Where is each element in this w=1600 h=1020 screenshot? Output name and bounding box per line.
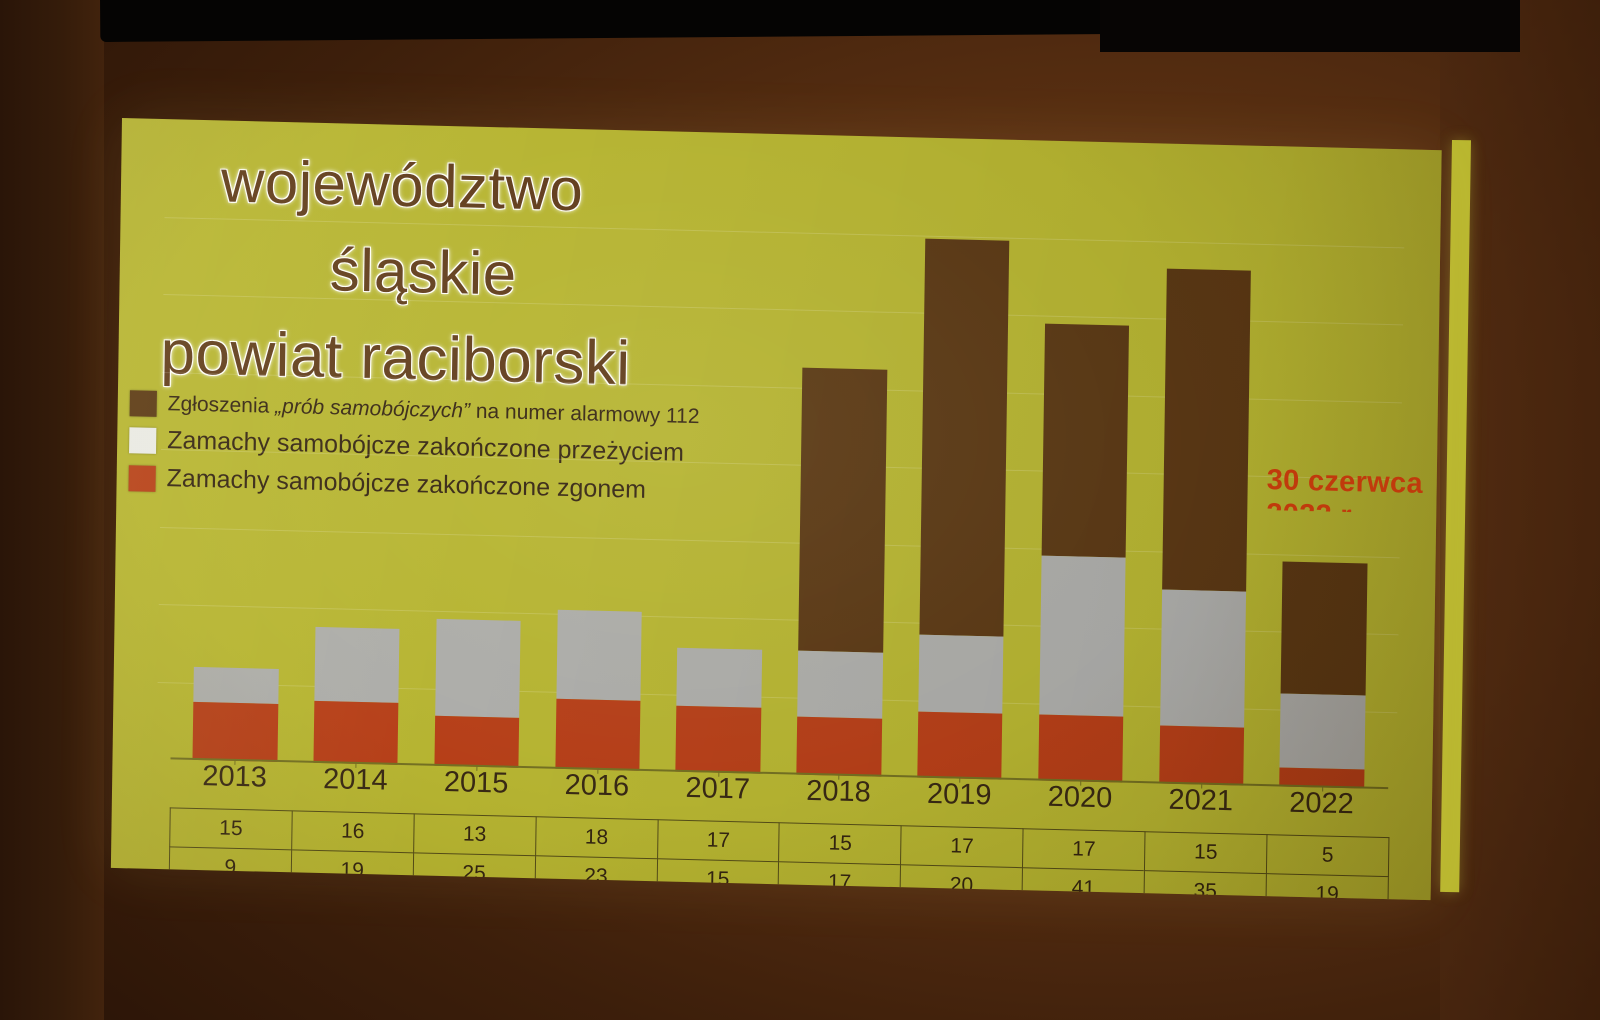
segment-deaths-2013 <box>193 702 278 762</box>
table-cell-r3-2013 <box>169 886 291 900</box>
table-cell-r3-2015 <box>412 892 534 900</box>
table-cell-r1-2014: 16 <box>292 811 414 853</box>
year-label-2019: 2019 <box>899 777 1020 813</box>
table-cell-r2-2020: 41 <box>1022 868 1144 900</box>
bar-2015 <box>434 619 521 768</box>
segment-deaths-2014 <box>313 701 398 765</box>
table-cell-r3-2017 <box>656 898 778 900</box>
bar-2020 <box>1038 323 1129 782</box>
segment-survived-2017 <box>677 648 762 708</box>
bar-2019 <box>917 239 1010 780</box>
table-cell-r2-2022: 19 <box>1266 874 1389 901</box>
chart-plot-area <box>174 140 1391 789</box>
ceiling-dark-band-2 <box>1100 0 1520 52</box>
segment-emergency-calls-2019 <box>919 239 1009 636</box>
table-cell-r2-2021: 35 <box>1144 871 1266 900</box>
bar-2022 <box>1280 562 1368 789</box>
table-cell-r1-2016: 18 <box>535 817 657 859</box>
segment-deaths-2019 <box>917 712 1003 780</box>
year-label-2015: 2015 <box>416 765 537 801</box>
bar-2018 <box>796 368 887 777</box>
segment-deaths-2021 <box>1159 725 1244 785</box>
segment-survived-2022 <box>1280 693 1366 769</box>
year-label-2018: 2018 <box>778 774 899 810</box>
legend-swatch-brown <box>130 390 157 417</box>
year-label-2020: 2020 <box>1019 780 1140 816</box>
segment-emergency-calls-2018 <box>798 368 887 653</box>
table-cell-r1-2019: 17 <box>901 826 1023 868</box>
segment-survived-2014 <box>314 627 400 703</box>
year-label-2016: 2016 <box>536 768 657 804</box>
bar-2014 <box>313 627 400 765</box>
segment-deaths-2020 <box>1038 715 1124 783</box>
segment-emergency-calls-2022 <box>1281 562 1367 696</box>
segment-survived-2013 <box>193 667 278 704</box>
projected-slide: województwo śląskie powiat raciborski Zg… <box>111 118 1442 900</box>
year-label-2014: 2014 <box>295 762 416 798</box>
stacked-bar-chart <box>156 139 1405 789</box>
table-cell-r3-2014 <box>290 889 412 900</box>
annotation-line-1: 30 czerwca <box>1267 464 1424 501</box>
bar-2021 <box>1159 268 1251 785</box>
segment-survived-2021 <box>1160 590 1247 728</box>
segment-survived-2018 <box>797 651 883 719</box>
table-cell-r2-2013: 9 <box>169 847 291 889</box>
year-label-2013: 2013 <box>174 759 295 795</box>
year-label-2021: 2021 <box>1140 783 1261 819</box>
segment-deaths-2017 <box>676 706 762 774</box>
bar-2017 <box>676 648 762 774</box>
segment-deaths-2018 <box>796 717 881 777</box>
table-cell-r2-2019: 20 <box>900 865 1022 900</box>
table-cell-r2-2018: 17 <box>778 862 900 900</box>
segment-survived-2020 <box>1039 556 1126 717</box>
segment-survived-2015 <box>435 619 521 718</box>
table-cell-r1-2013: 15 <box>170 808 292 850</box>
table-cell-r2-2016: 23 <box>535 856 657 898</box>
segment-survived-2019 <box>918 634 1004 714</box>
annotation-line-2: 2022 r. <box>1266 498 1359 512</box>
table-cell-r1-2020: 17 <box>1023 829 1145 871</box>
wall-left-panel <box>0 0 104 1020</box>
table-cell-r2-2015: 25 <box>413 853 535 895</box>
table-cell-r1-2018: 15 <box>779 823 901 865</box>
table-cell-r1-2021: 15 <box>1145 832 1267 874</box>
table-cell-r2-2017: 15 <box>657 859 779 900</box>
table-cell-r1-2022: 5 <box>1266 835 1389 877</box>
table-cell-r1-2015: 13 <box>413 814 535 856</box>
legend-swatch-orange <box>128 465 155 492</box>
table-cell-r1-2017: 17 <box>657 820 779 862</box>
bar-2016 <box>555 610 642 771</box>
segment-emergency-calls-2020 <box>1041 323 1129 558</box>
bar-2013 <box>193 667 279 762</box>
year-label-2017: 2017 <box>657 771 778 807</box>
segment-emergency-calls-2021 <box>1162 268 1251 592</box>
table-cell-r2-2014: 19 <box>291 850 413 892</box>
year-label-2022: 2022 <box>1261 786 1382 822</box>
segment-deaths-2016 <box>555 699 641 771</box>
legend-swatch-white <box>129 427 156 454</box>
segment-deaths-2015 <box>434 715 519 767</box>
photo-scene: województwo śląskie powiat raciborski Zg… <box>0 0 1600 1020</box>
table-cell-r3-2016 <box>534 895 656 900</box>
segment-survived-2016 <box>556 610 642 701</box>
